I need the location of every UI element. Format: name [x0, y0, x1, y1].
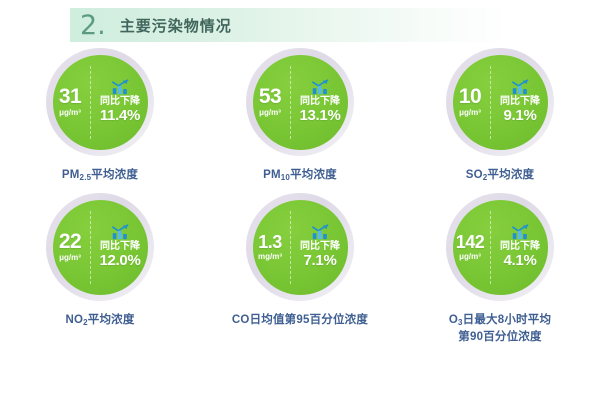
section-title: 主要污染物情况: [120, 15, 232, 36]
metric-value-block: 22 μg/m³: [53, 231, 90, 263]
divider-line: [290, 211, 291, 284]
metric-percent: 11.4%: [100, 107, 140, 124]
metric-disc: 142 μg/m³ 同比下降 4.1%: [453, 200, 548, 295]
metric-unit: μg/m³: [253, 108, 288, 118]
metric-change-block: 同比下降 12.0%: [90, 224, 148, 269]
metric-value-block: 10 μg/m³: [453, 86, 490, 118]
metric-caption: PM2.5平均浓度: [62, 167, 138, 184]
metric-change-label: 同比下降: [100, 96, 140, 107]
metric-change-block: 同比下降 9.1%: [490, 79, 548, 124]
divider-line: [90, 66, 91, 139]
metric-disc: 53 μg/m³ 同比下降 13.1%: [253, 55, 348, 150]
metric-percent: 7.1%: [304, 252, 337, 269]
divider-line: [490, 211, 491, 284]
metric-disc: 31 μg/m³ 同比下降 11.4%: [53, 55, 148, 150]
metric-value-block: 31 μg/m³: [53, 86, 90, 118]
metric-unit: μg/m³: [453, 252, 488, 262]
metric-caption: SO2平均浓度: [466, 167, 534, 184]
divider-line: [90, 211, 91, 284]
metric-ring: 142 μg/m³ 同比下降 4.1%: [446, 193, 554, 301]
section-number: 2.: [80, 12, 106, 39]
bar-chart-down-icon: [110, 224, 130, 240]
metric-caption: CO日均值第95百分位浓度: [232, 312, 368, 329]
bar-chart-down-icon: [110, 79, 130, 95]
metric-ring: 22 μg/m³ 同比下降 12.0%: [46, 193, 154, 301]
metric-card-5[interactable]: 142 μg/m³ 同比下降 4.1% O3日最大8小时平均 第90百分位浓度: [400, 193, 600, 348]
bar-chart-down-icon: [310, 79, 330, 95]
bar-chart-down-icon: [310, 224, 330, 240]
metric-disc: 1.3 mg/m³ 同比下降 7.1%: [253, 200, 348, 295]
bar-chart-down-icon: [510, 224, 530, 240]
metric-caption: O3日最大8小时平均 第90百分位浓度: [449, 312, 551, 345]
metric-caption: PM10平均浓度: [263, 167, 337, 184]
divider-line: [490, 66, 491, 139]
metric-value: 31: [53, 86, 88, 107]
metric-card-2[interactable]: 10 μg/m³ 同比下降 9.1% SO2平均浓度: [400, 48, 600, 193]
metric-change-label: 同比下降: [500, 241, 540, 252]
metric-change-label: 同比下降: [100, 241, 140, 252]
section-header: 2. 主要污染物情况: [70, 8, 510, 42]
metric-change-block: 同比下降 4.1%: [490, 224, 548, 269]
metric-ring: 1.3 mg/m³ 同比下降 7.1%: [246, 193, 354, 301]
metric-unit: mg/m³: [253, 252, 288, 262]
metric-ring: 31 μg/m³ 同比下降 11.4%: [46, 48, 154, 156]
metric-value: 10: [453, 86, 488, 107]
metric-value-block: 1.3 mg/m³: [253, 233, 290, 262]
metric-change-label: 同比下降: [300, 241, 340, 252]
metric-value: 53: [253, 86, 288, 107]
metric-value-block: 53 μg/m³: [253, 86, 290, 118]
metric-grid: 31 μg/m³ 同比下降 11.4% PM2.5平均浓度: [0, 48, 600, 348]
metric-change-block: 同比下降 13.1%: [290, 79, 348, 124]
metric-disc: 22 μg/m³ 同比下降 12.0%: [53, 200, 148, 295]
metric-percent: 12.0%: [99, 252, 140, 269]
metric-percent: 9.1%: [504, 107, 537, 124]
metric-disc: 10 μg/m³ 同比下降 9.1%: [453, 55, 548, 150]
metric-change-block: 同比下降 11.4%: [90, 79, 148, 124]
metric-percent: 13.1%: [299, 107, 340, 124]
metric-value: 1.3: [253, 233, 288, 251]
metric-ring: 53 μg/m³ 同比下降 13.1%: [246, 48, 354, 156]
metric-change-block: 同比下降 7.1%: [290, 224, 348, 269]
metric-unit: μg/m³: [453, 108, 488, 118]
metric-value: 22: [53, 231, 88, 252]
metric-ring: 10 μg/m³ 同比下降 9.1%: [446, 48, 554, 156]
metric-card-4[interactable]: 1.3 mg/m³ 同比下降 7.1% CO日均值第95百分位浓度: [200, 193, 400, 348]
metric-change-label: 同比下降: [500, 96, 540, 107]
divider-line: [290, 66, 291, 139]
metric-card-3[interactable]: 22 μg/m³ 同比下降 12.0% NO2平均浓度: [0, 193, 200, 348]
metric-value-block: 142 μg/m³: [453, 233, 490, 262]
metric-value: 142: [453, 233, 488, 251]
metric-percent: 4.1%: [504, 252, 537, 269]
metric-change-label: 同比下降: [300, 96, 340, 107]
metric-unit: μg/m³: [53, 253, 88, 263]
metric-card-1[interactable]: 53 μg/m³ 同比下降 13.1% PM10平均浓度: [200, 48, 400, 193]
bar-chart-down-icon: [510, 79, 530, 95]
metric-caption: NO2平均浓度: [65, 312, 134, 329]
metric-card-0[interactable]: 31 μg/m³ 同比下降 11.4% PM2.5平均浓度: [0, 48, 200, 193]
metric-unit: μg/m³: [53, 108, 88, 118]
